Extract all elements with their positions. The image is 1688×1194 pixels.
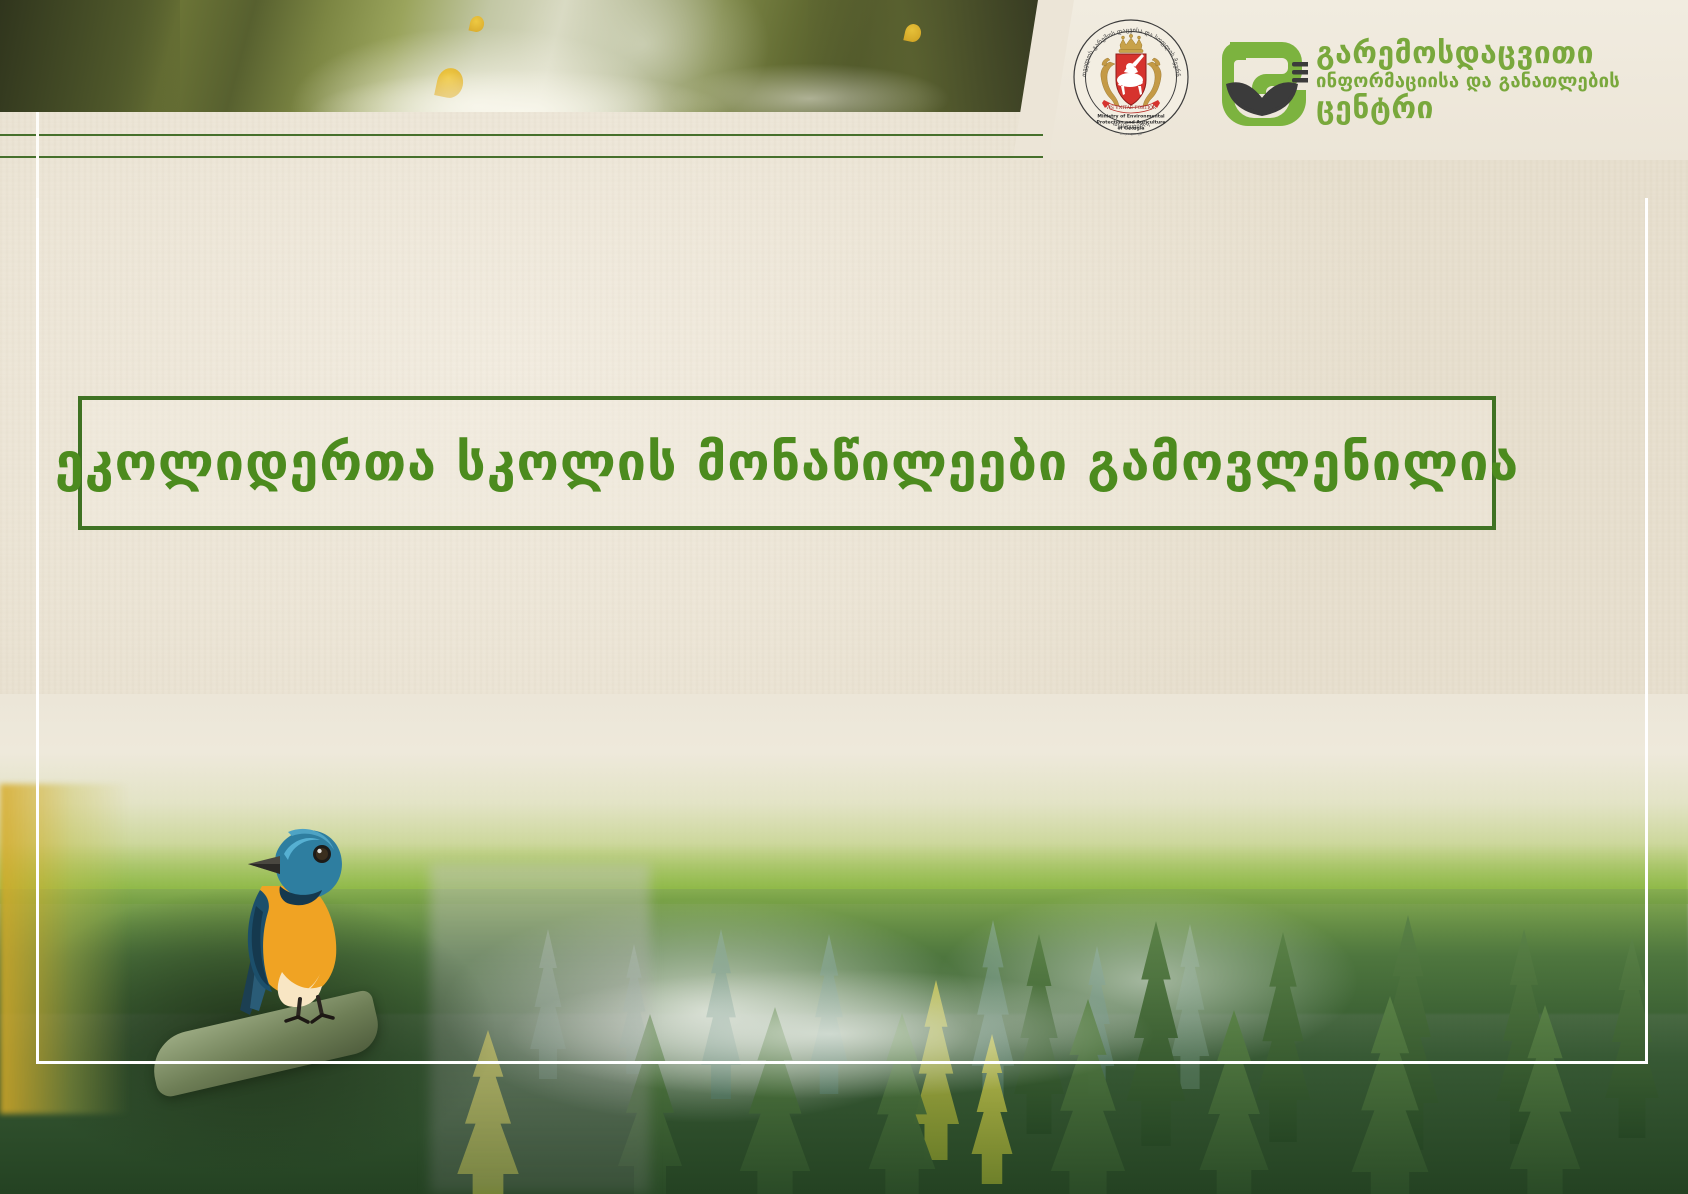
pine-tree xyxy=(960,1034,1024,1184)
green-rule-lower xyxy=(0,156,1043,158)
page-title: ეკოლიდერთა სკოლის მონაწილეები გამოვლენილ… xyxy=(55,437,1519,489)
pine-tree xyxy=(720,1007,830,1194)
svg-text:of Georgia: of Georgia xyxy=(1117,126,1144,132)
photo-left-gold-glow xyxy=(0,784,130,1114)
logo-panel: საქართველოს გარემოს დაცვისა და სოფლის მე… xyxy=(1038,0,1688,160)
center-logo-line3: ცენტრი xyxy=(1316,94,1620,125)
frame-left-stub xyxy=(36,112,39,202)
pine-tree xyxy=(690,929,752,1099)
title-box: ეკოლიდერთა სკოლის მონაწილეები გამოვლენილ… xyxy=(78,396,1496,530)
top-forest-photo xyxy=(0,0,1038,112)
green-rule-upper xyxy=(0,134,1043,136)
center-logo-line2: ინფორმაციისა და განათლების xyxy=(1316,71,1620,93)
svg-text:mepa.gov.ge: mepa.gov.ge xyxy=(1120,132,1142,136)
pine-tree xyxy=(1590,938,1674,1138)
poster-canvas: საქართველოს გარემოს დაცვისა და სოფლის მე… xyxy=(0,0,1688,1194)
ministry-seal-icon: საქართველოს გარემოს დაცვისა და სოფლის მე… xyxy=(1072,18,1190,136)
svg-text:Ministry of Environmental: Ministry of Environmental xyxy=(1097,114,1165,120)
svg-text:Protection and Agriculture: Protection and Agriculture xyxy=(1097,120,1166,126)
pine-tree xyxy=(800,934,858,1094)
svg-text:VIS VNITAE FORTIOR: VIS VNITAE FORTIOR xyxy=(1105,106,1157,111)
top-photo-mist xyxy=(0,0,1038,112)
center-logo-line1: გარემოსდაცვითი xyxy=(1316,39,1620,70)
open-book-in-green-square-icon xyxy=(1216,36,1308,128)
flycatcher-bird xyxy=(196,794,386,1044)
bottom-forest-photo xyxy=(0,694,1688,1194)
center-logo-wordmark: გარემოსდაცვითი ინფორმაციისა და განათლები… xyxy=(1316,39,1620,124)
environmental-info-center-logo: გარემოსდაცვითი ინფორმაციისა და განათლები… xyxy=(1216,36,1620,128)
